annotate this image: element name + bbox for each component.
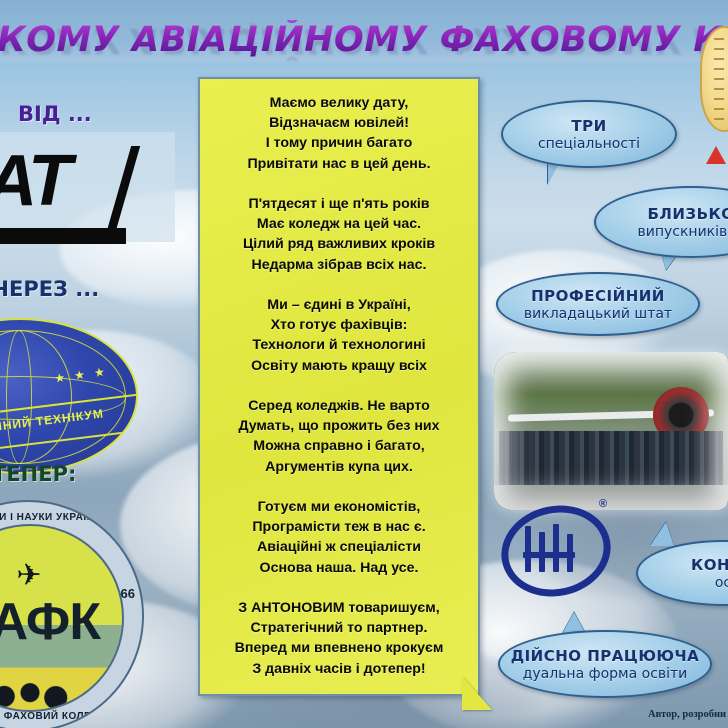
callout-line1: ДІЙСНО ПРАЦЮЮЧА xyxy=(511,647,700,665)
bubble-tail-competitive xyxy=(650,522,674,546)
vat-logo-text: ВАТ xyxy=(0,140,70,222)
medal-dots xyxy=(714,38,724,122)
callout-specialties[interactable]: ТРИ спеціальності xyxy=(501,100,677,168)
author-credit: Автор, розробни xyxy=(648,709,726,720)
emblem-ring-bottom-text: ІАЦІЙНИЙ ФАХОВИЙ КОЛЕДЖ xyxy=(0,711,142,722)
callout-line2: випускників ш xyxy=(637,224,728,240)
callout-dual-education[interactable]: ДІЙСНО ПРАЦЮЮЧА дуальна форма освіти xyxy=(498,630,712,698)
callout-line2: спеціальності xyxy=(538,136,640,152)
callout-line2: викладацький штат xyxy=(524,306,672,322)
poem-text: Маємо велику дату, Відзначаєм ювілей! І … xyxy=(200,79,478,679)
label-now: ТЕПЕР: xyxy=(0,462,76,486)
emblem-ring-top-text: О ОСВІТИ І НАУКИ УКРАЇНИ xyxy=(0,512,142,523)
emblem-inner-disc: ✈ КАФК xyxy=(0,524,124,712)
antonov-logo: ® xyxy=(495,500,605,592)
students-photo xyxy=(494,352,728,510)
callout-staff[interactable]: ПРОФЕСІЙНИЙ викладацький штат xyxy=(496,272,700,336)
emblem-center-text: КАФК xyxy=(0,592,122,652)
vat-logo-bar xyxy=(0,228,126,244)
label-from: ВІД ... xyxy=(18,102,92,126)
callout-line1: ПРОФЕСІЙНИЙ xyxy=(531,287,665,305)
registered-mark: ® xyxy=(599,498,607,510)
page-title: ЬКОМУ АВІАЦІЙНОМУ ФАХОВОМУ КОЛЕДЖУ xyxy=(0,20,728,60)
callout-line2: дуальна форма освіти xyxy=(523,666,688,682)
callout-line1: ТРИ xyxy=(571,117,606,135)
label-through: ЧЕРЕЗ ... xyxy=(0,277,99,301)
poster-canvas: ЬКОМУ АВІАЦІЙНОМУ ФАХОВОМУ КОЛЕДЖУ ЬКОМУ… xyxy=(0,0,728,728)
photo-vignette xyxy=(494,352,728,510)
antonov-mark xyxy=(523,522,577,576)
airplane-icon: ✈ xyxy=(0,558,94,594)
red-triangle-icon xyxy=(706,146,726,164)
city-skyline-icon xyxy=(0,648,122,710)
poem-panel: Маємо велику дату, Відзначаєм ювілей! І … xyxy=(198,77,480,696)
callout-line1: КОНКУ xyxy=(691,556,728,574)
callout-line2: ос xyxy=(715,575,728,591)
callout-line1: БЛИЗЬКО xyxy=(647,205,728,223)
